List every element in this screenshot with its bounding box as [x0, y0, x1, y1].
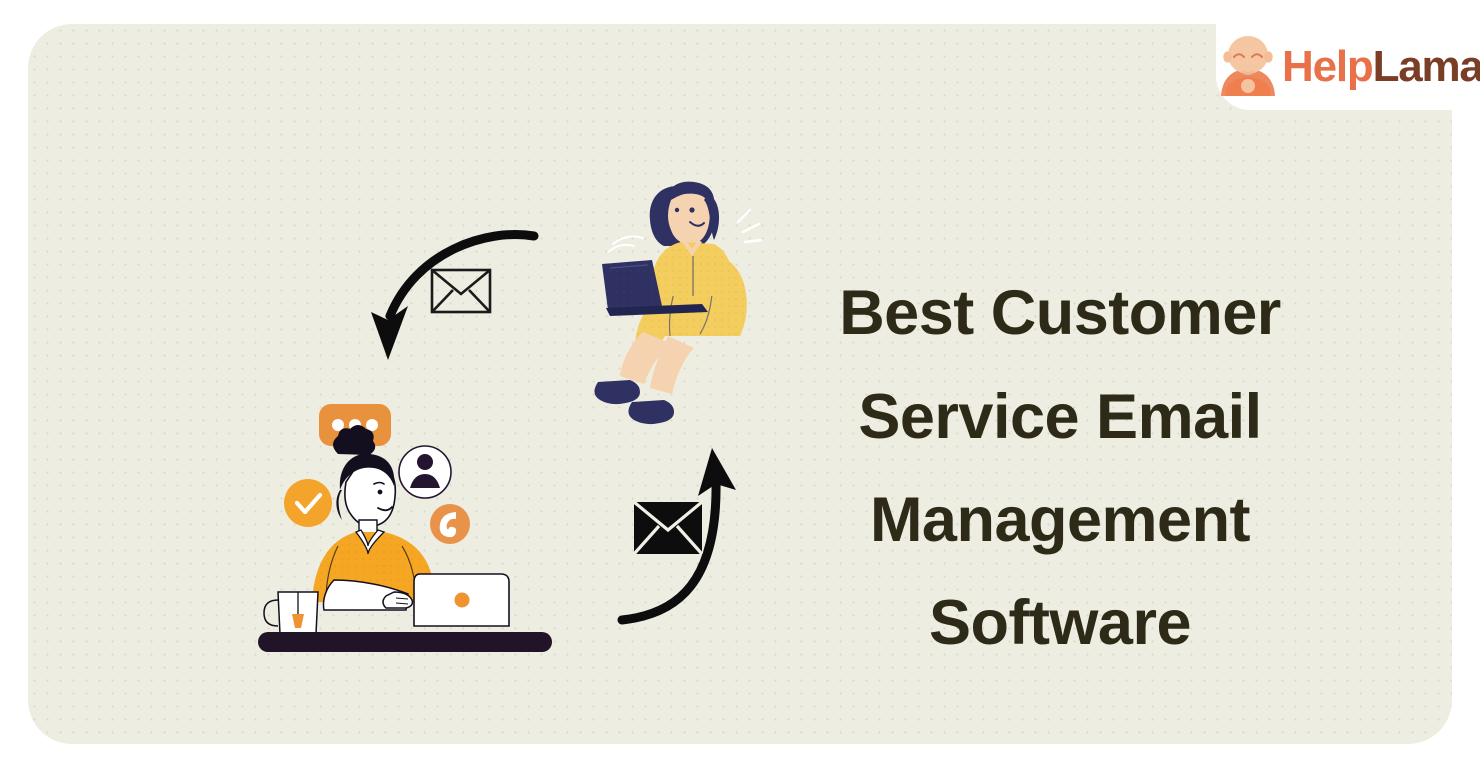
envelope-filled-icon	[634, 502, 702, 554]
woman-sitting-with-laptop-illustration	[580, 164, 790, 434]
envelope-filled-svg	[634, 502, 702, 554]
monk-lama-icon	[1218, 36, 1278, 98]
support-agent-svg	[256, 396, 556, 662]
envelope-outline-svg	[430, 268, 492, 314]
logo-word-lama: Lama	[1373, 42, 1480, 91]
title-line-4: Software	[780, 572, 1340, 675]
check-circle-icon	[284, 479, 332, 527]
phone-circle-icon	[430, 504, 470, 544]
title-line-3: Management	[780, 469, 1340, 572]
title-line-2: Service Email	[780, 366, 1340, 469]
envelope-outline-icon	[430, 268, 492, 314]
user-avatar-circle-icon	[399, 446, 451, 498]
seated-woman-svg	[580, 164, 790, 434]
poster-canvas: HelpLama Best Customer Service Email Man…	[0, 0, 1480, 774]
logo-word-help: Help	[1282, 42, 1373, 91]
page-title: Best Customer Service Email Management S…	[780, 262, 1340, 675]
helplama-logo[interactable]: HelpLama	[1218, 30, 1444, 104]
title-line-1: Best Customer	[780, 262, 1340, 365]
poster-card: HelpLama Best Customer Service Email Man…	[28, 24, 1452, 744]
support-agent-at-desk-illustration	[256, 396, 556, 662]
logo-wordmark: HelpLama	[1282, 45, 1480, 89]
